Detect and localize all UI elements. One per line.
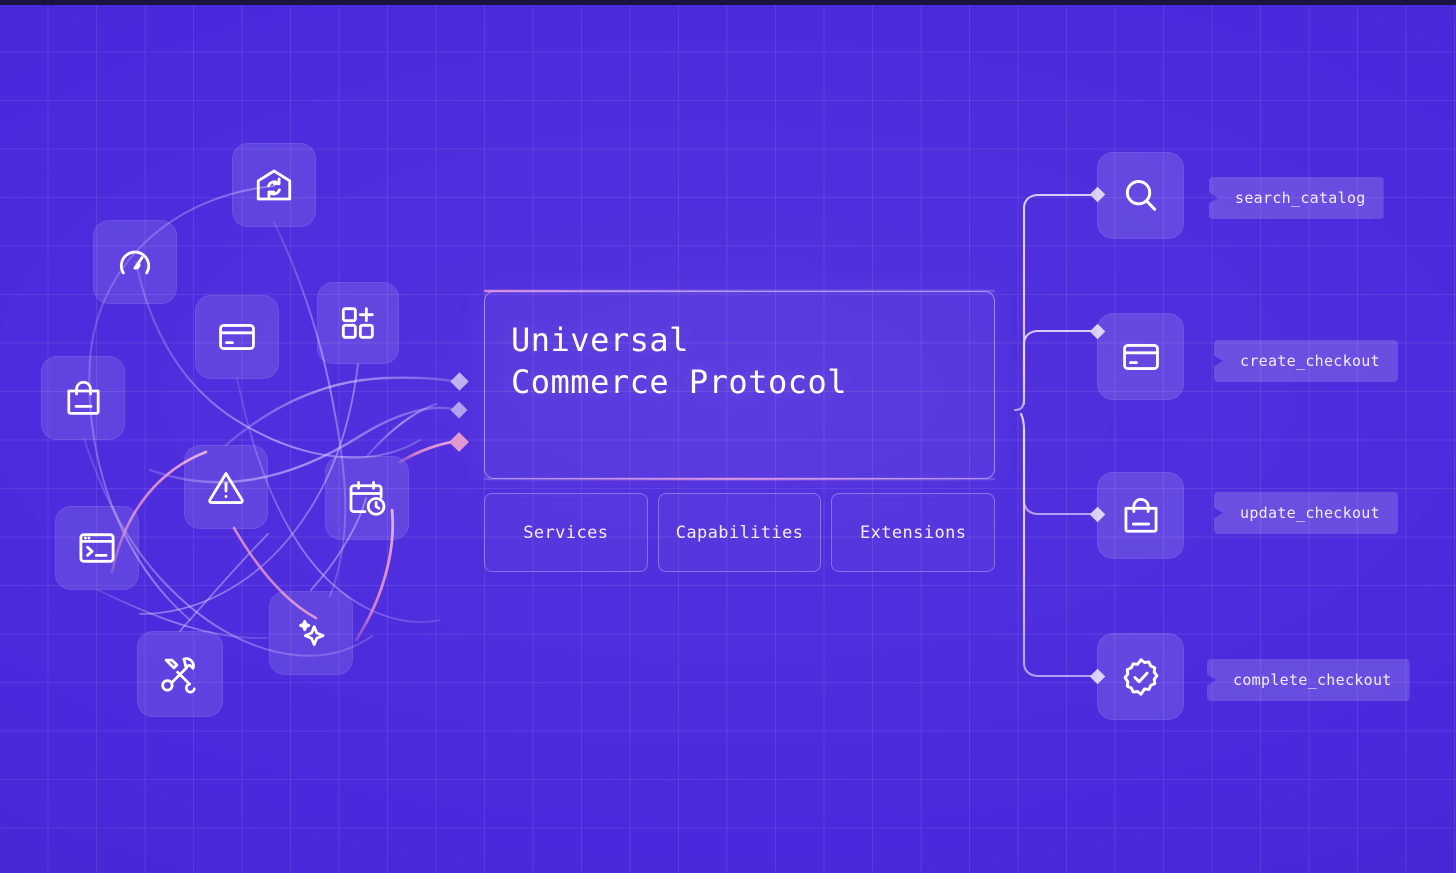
tab-extensions[interactable]: Extensions [831,493,995,572]
endpoint-label-text: search_catalog [1235,189,1366,207]
inventory-sync-icon[interactable] [232,143,316,227]
terminal-icon[interactable] [55,506,139,590]
title-line-2: Commerce Protocol [511,363,847,401]
endpoint-label-text: complete_checkout [1233,671,1392,689]
endpoint-label-text: create_checkout [1240,352,1380,370]
top-edge-strip [0,0,1456,5]
magnifier-icon [1120,175,1162,217]
ai-sparkle-icon[interactable] [269,591,353,675]
speedometer-icon [115,242,155,282]
endpoint-tile-search-catalog[interactable] [1097,152,1184,239]
payment-card-icon[interactable] [195,295,279,379]
endpoint-label-text: update_checkout [1240,504,1380,522]
tab-services-label: Services [523,523,608,543]
alert-icon[interactable] [184,445,268,529]
alert-triangle-icon [205,466,247,508]
endpoint-tile-complete-checkout[interactable] [1097,633,1184,720]
gauge-icon[interactable] [93,220,177,304]
add-module-icon[interactable] [317,282,399,364]
tools-icon [158,652,202,696]
endpoint-tile-update-checkout[interactable] [1097,472,1184,559]
calendar-clock-icon [346,477,389,520]
title-line-1: Universal [511,321,689,359]
main-protocol-card: UniversalCommerce Protocol [484,291,995,479]
tooling-icon[interactable] [137,631,223,717]
credit-card-icon [216,316,258,358]
diagram-canvas: UniversalCommerce Protocol Services Capa… [0,0,1456,873]
tab-capabilities[interactable]: Capabilities [658,493,822,572]
shopping-bag-icon [1120,495,1162,537]
shopping-bag-icon [63,378,104,419]
endpoint-label-create-checkout[interactable]: create_checkout [1214,340,1398,382]
grid-plus-icon [338,303,378,343]
endpoint-label-update-checkout[interactable]: update_checkout [1214,492,1398,534]
page-title: UniversalCommerce Protocol [511,319,847,403]
warehouse-refresh-icon [253,164,295,206]
endpoint-tile-create-checkout[interactable] [1097,313,1184,400]
tab-extensions-label: Extensions [860,523,966,543]
tab-capabilities-label: Capabilities [676,523,804,543]
badge-check-icon [1119,655,1163,699]
tab-services[interactable]: Services [484,493,648,572]
endpoint-label-complete-checkout[interactable]: complete_checkout [1207,659,1410,701]
subtab-row: Services Capabilities Extensions [484,493,995,572]
storefront-bag-icon[interactable] [41,356,125,440]
endpoint-label-search-catalog[interactable]: search_catalog [1209,177,1384,219]
sparkles-icon [290,612,332,654]
credit-card-icon [1120,336,1162,378]
terminal-window-icon [76,527,118,569]
scheduling-icon[interactable] [325,456,409,540]
